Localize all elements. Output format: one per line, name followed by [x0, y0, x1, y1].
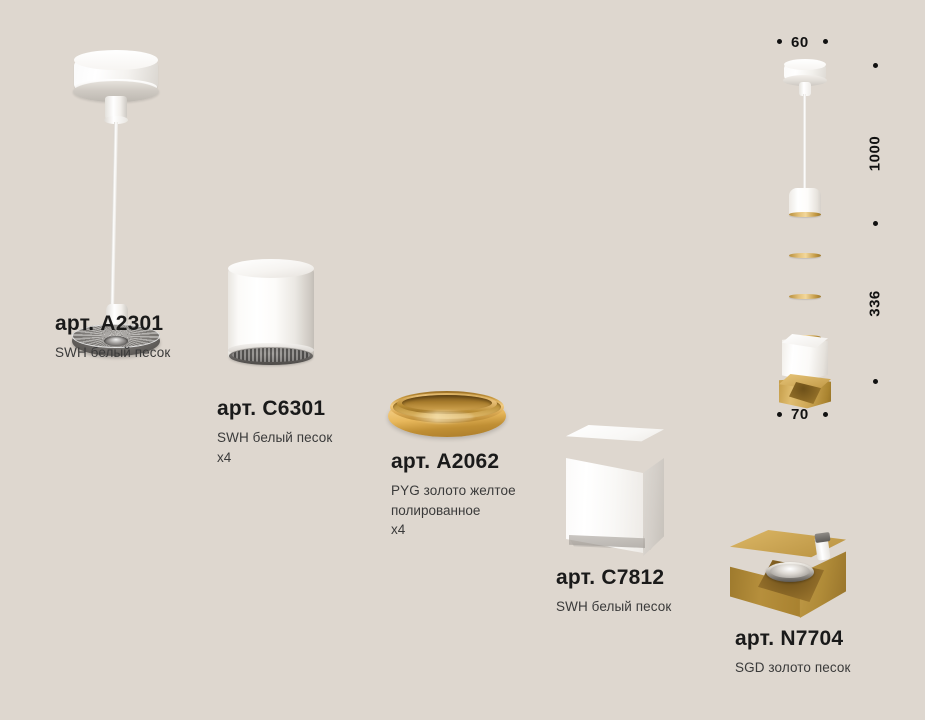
- product-image-a2301: [66, 52, 166, 307]
- dim-dot-right-top: [873, 63, 878, 68]
- finish-n7704: SGD золото песок: [735, 658, 851, 678]
- product-image-assembly: [772, 60, 838, 385]
- cylinder-bottom-grill: [232, 348, 310, 362]
- label-a2062: арт. A2062 PYG золото желтое полированно…: [391, 450, 516, 540]
- assembly-segment-2: [789, 256, 821, 296]
- assembly-segment-1: [789, 215, 821, 255]
- label-c6301: арт. C6301 SWH белый песок x4: [217, 397, 332, 467]
- dim-dot-top-left: [777, 39, 782, 44]
- dim-dot-bottom-right: [823, 412, 828, 417]
- finish-a2062-line2: полированное: [391, 501, 516, 521]
- dim-dot-right-mid: [873, 221, 878, 226]
- article-number-c6301: арт. C6301: [217, 397, 332, 421]
- product-configuration-diagram: арт. A2301 SWH белый песок арт. C6301 SW…: [0, 0, 925, 720]
- cube-top-face: [566, 425, 664, 459]
- dim-dot-bottom-left: [777, 412, 782, 417]
- product-image-c7812: [566, 425, 664, 553]
- cylinder-top: [228, 259, 314, 278]
- ring-aperture: [402, 395, 492, 411]
- label-a2301: арт. A2301 SWH белый песок: [55, 312, 170, 363]
- product-image-n7704: [730, 530, 846, 620]
- dim-dot-top-right: [823, 39, 828, 44]
- label-c7812: арт. C7812 SWH белый песок: [556, 566, 671, 617]
- dim-value-total-height: 1000: [867, 134, 884, 174]
- pendant-cable: [110, 122, 118, 312]
- product-image-c6301: [228, 259, 314, 367]
- finish-c6301: SWH белый песок: [217, 428, 332, 448]
- ring-highlight: [412, 411, 474, 423]
- assembly-segment-3: [789, 297, 821, 337]
- product-image-a2062: [388, 389, 506, 441]
- article-number-a2301: арт. A2301: [55, 312, 170, 336]
- quantity-c6301: x4: [217, 448, 332, 468]
- finish-a2301: SWH белый песок: [55, 343, 170, 363]
- assembly-cable: [803, 94, 806, 190]
- dim-dot-right-bottom: [873, 379, 878, 384]
- dim-value-top-width: 60: [791, 34, 809, 51]
- dim-value-base-width: 70: [791, 406, 809, 423]
- base-reflector-inner: [770, 564, 810, 578]
- finish-c7812: SWH белый песок: [556, 597, 671, 617]
- finish-a2062: PYG золото желтое: [391, 481, 516, 501]
- article-number-c7812: арт. C7812: [556, 566, 671, 590]
- assembly-canopy-top: [784, 59, 826, 70]
- quantity-a2062: x4: [391, 520, 516, 540]
- article-number-n7704: арт. N7704: [735, 627, 851, 651]
- article-number-a2062: арт. A2062: [391, 450, 516, 474]
- pendant-canopy-top: [74, 50, 158, 70]
- dim-value-body-height: 336: [867, 286, 884, 322]
- label-n7704: арт. N7704 SGD золото песок: [735, 627, 851, 678]
